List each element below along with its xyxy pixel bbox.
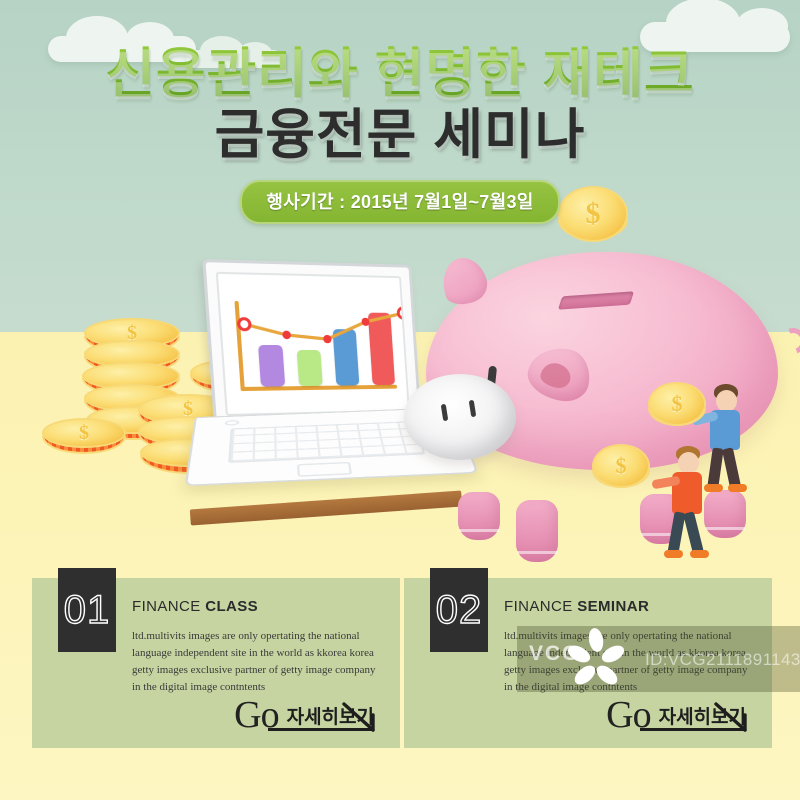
card-number: 02 xyxy=(436,588,483,633)
pig-snout xyxy=(404,374,516,460)
card-finance-seminar[interactable]: 02 FINANCE SEMINAR ltd.multivits images … xyxy=(404,578,772,748)
coin-icon: $ xyxy=(592,444,650,506)
card-title: FINANCE CLASS xyxy=(132,598,258,615)
laptop-lid xyxy=(202,259,421,429)
pig-leg xyxy=(516,500,558,562)
laptop-trackpad xyxy=(297,462,352,477)
card-number-badge: 01 xyxy=(58,568,116,652)
card-number-badge: 02 xyxy=(430,568,488,652)
go-button[interactable]: Go 자세히보기 xyxy=(606,698,746,732)
go-label: Go xyxy=(234,698,278,732)
arrow-icon xyxy=(714,702,748,732)
coin-icon: $ xyxy=(42,418,126,454)
coin-icon: $ xyxy=(648,382,706,444)
card-title-bold: SEMINAR xyxy=(577,598,649,615)
headline-block: 신용관리와 현명한 재테크 금융전문 세미나 행사기간 : 2015년 7월1일… xyxy=(0,46,800,224)
card-number: 01 xyxy=(64,588,111,633)
go-button[interactable]: Go 자세히보기 xyxy=(234,698,374,732)
laptop-keyboard xyxy=(228,421,425,463)
poster-canvas: 신용관리와 현명한 재테크 금융전문 세미나 행사기간 : 2015년 7월1일… xyxy=(0,0,800,800)
card-title-bold: CLASS xyxy=(205,598,258,615)
go-label: Go xyxy=(606,698,650,732)
event-date-badge: 행사기간 : 2015년 7월1일~7월3일 xyxy=(240,180,559,224)
page-title-line-2: 금융전문 세미나 xyxy=(0,107,800,164)
card-body-text: ltd.multivits images are only opertating… xyxy=(132,628,382,696)
pig-leg xyxy=(458,492,500,540)
card-body-text: ltd.multivits images are only opertating… xyxy=(504,628,754,696)
pig-tail xyxy=(776,324,800,359)
card-title-light: FINANCE xyxy=(504,598,577,615)
card-finance-class[interactable]: 01 FINANCE CLASS ltd.multivits images ar… xyxy=(32,578,400,748)
arrow-icon xyxy=(342,702,376,732)
laptop-hinge-dot xyxy=(225,420,240,426)
chart-trend-line xyxy=(234,293,410,367)
person-orange-shirt xyxy=(652,446,716,566)
page-title-line-1: 신용관리와 현명한 재테크 xyxy=(0,46,800,103)
cards-row: 01 FINANCE CLASS ltd.multivits images ar… xyxy=(0,578,800,756)
bar-line-chart xyxy=(218,274,408,414)
laptop-screen xyxy=(216,272,410,416)
card-title-light: FINANCE xyxy=(132,598,205,615)
card-title: FINANCE SEMINAR xyxy=(504,598,649,615)
